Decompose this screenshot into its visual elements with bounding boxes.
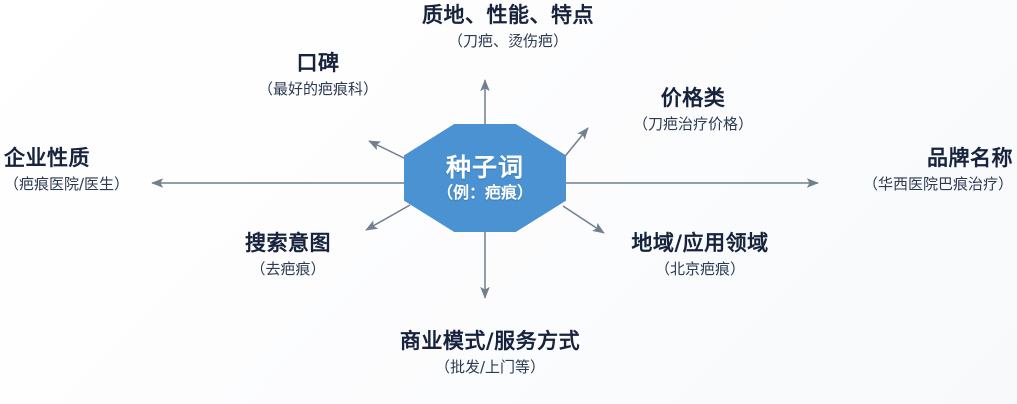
branch-example-bottom: （批发/上门等）	[400, 358, 580, 378]
branch-title-left: 企业性质	[4, 145, 129, 171]
branch-example-left: （疤痕医院/医生）	[4, 175, 129, 195]
branch-title-top-left: 口碑	[258, 50, 378, 76]
diagram-canvas: 种子词 （例：疤痕） 质地、性能、特点 （刀疤、烫伤疤） 口碑 （最好的疤痕科）…	[0, 0, 1017, 404]
branch-title-right: 品牌名称	[863, 145, 1013, 171]
branch-example-bottom-left: （去疤痕）	[245, 260, 331, 280]
branch-label-left[interactable]: 企业性质 （疤痕医院/医生）	[4, 145, 129, 195]
branch-label-bottom-left[interactable]: 搜索意图 （去疤痕）	[245, 230, 331, 280]
branch-label-right[interactable]: 品牌名称 （华西医院巴痕治疗）	[863, 145, 1013, 195]
branch-title-top: 质地、性能、特点	[422, 2, 594, 28]
center-node-seed-keyword[interactable]: 种子词 （例：疤痕）	[404, 124, 566, 232]
arrow-down-left	[366, 205, 410, 230]
branch-title-bottom-left: 搜索意图	[245, 230, 331, 256]
branch-example-top-left: （最好的疤痕科）	[258, 80, 378, 100]
branch-title-bottom: 商业模式/服务方式	[400, 328, 580, 354]
branch-label-bottom[interactable]: 商业模式/服务方式 （批发/上门等）	[400, 328, 580, 378]
branch-title-bottom-right: 地域/应用领域	[631, 230, 768, 256]
branch-title-top-right: 价格类	[633, 85, 753, 111]
branch-label-top-left[interactable]: 口碑 （最好的疤痕科）	[258, 50, 378, 100]
branch-example-right: （华西医院巴痕治疗）	[863, 175, 1013, 195]
center-node-subtitle: （例：疤痕）	[437, 184, 533, 202]
branch-label-top[interactable]: 质地、性能、特点 （刀疤、烫伤疤）	[422, 2, 594, 52]
branch-example-top: （刀疤、烫伤疤）	[422, 32, 594, 52]
branch-label-top-right[interactable]: 价格类 （刀疤治疗价格）	[633, 85, 753, 135]
arrow-down-right	[563, 206, 604, 233]
branch-example-bottom-right: （北京疤痕）	[631, 260, 768, 280]
branch-example-top-right: （刀疤治疗价格）	[633, 115, 753, 135]
arrow-up-right	[562, 128, 588, 160]
center-node-title: 种子词	[446, 154, 524, 182]
branch-label-bottom-right[interactable]: 地域/应用领域 （北京疤痕）	[631, 230, 768, 280]
arrow-up-left	[369, 141, 408, 160]
